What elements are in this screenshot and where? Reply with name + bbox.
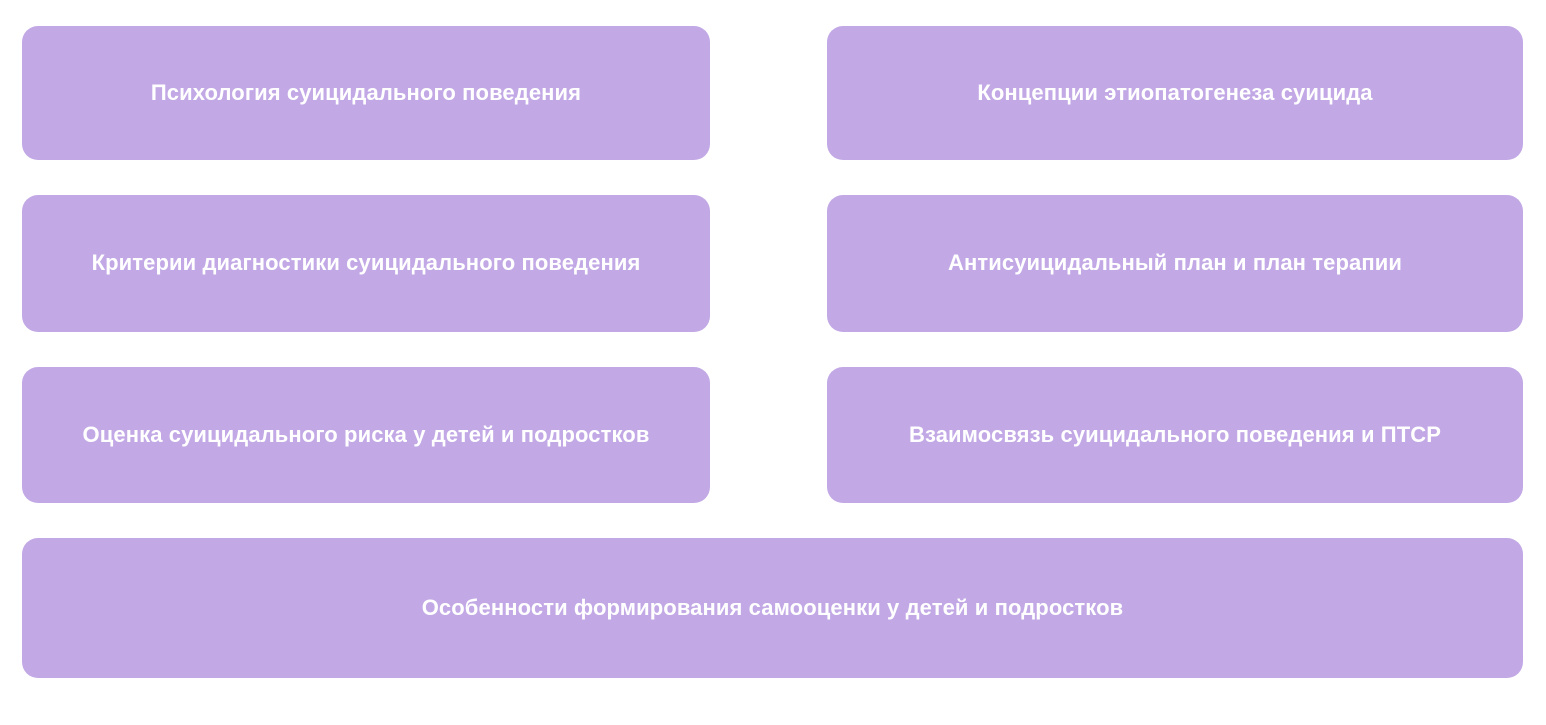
topic-card-kriterii-diagnostiki-suicidalnogo-povedeniya[interactable]: Критерии диагностики суицидального повед… bbox=[22, 195, 710, 332]
topic-card-koncepcii-etiopatogeneza-suicida[interactable]: Концепции этиопатогенеза суицида bbox=[827, 26, 1523, 160]
topic-card-label: Антисуицидальный план и план терапии bbox=[948, 246, 1402, 280]
topic-card-label: Особенности формирования самооценки у де… bbox=[422, 591, 1124, 625]
topic-card-label: Психология суицидального поведения bbox=[151, 76, 581, 110]
topic-cards-grid: Психология суицидального поведения Конце… bbox=[22, 26, 1523, 678]
topic-card-label: Взаимосвязь суицидального поведения и ПТ… bbox=[909, 418, 1441, 452]
topic-card-vzaimosvyaz-suicidalnogo-povedeniya-i-ptsr[interactable]: Взаимосвязь суицидального поведения и ПТ… bbox=[827, 367, 1523, 503]
topic-card-ocenka-suicidalnogo-riska-u-detey-i-podrostkov[interactable]: Оценка суицидального риска у детей и под… bbox=[22, 367, 710, 503]
topic-card-psihologiya-suicidalnogo-povedeniya[interactable]: Психология суицидального поведения bbox=[22, 26, 710, 160]
topic-card-label: Оценка суицидального риска у детей и под… bbox=[83, 418, 650, 452]
topic-card-antisuicidalnyy-plan-i-plan-terapii[interactable]: Антисуицидальный план и план терапии bbox=[827, 195, 1523, 332]
topic-card-label: Концепции этиопатогенеза суицида bbox=[977, 76, 1372, 110]
topic-card-label: Критерии диагностики суицидального повед… bbox=[92, 246, 641, 280]
topic-cards-page: Психология суицидального поведения Конце… bbox=[0, 0, 1546, 725]
topic-card-osobennosti-formirovaniya-samoocenki[interactable]: Особенности формирования самооценки у де… bbox=[22, 538, 1523, 678]
